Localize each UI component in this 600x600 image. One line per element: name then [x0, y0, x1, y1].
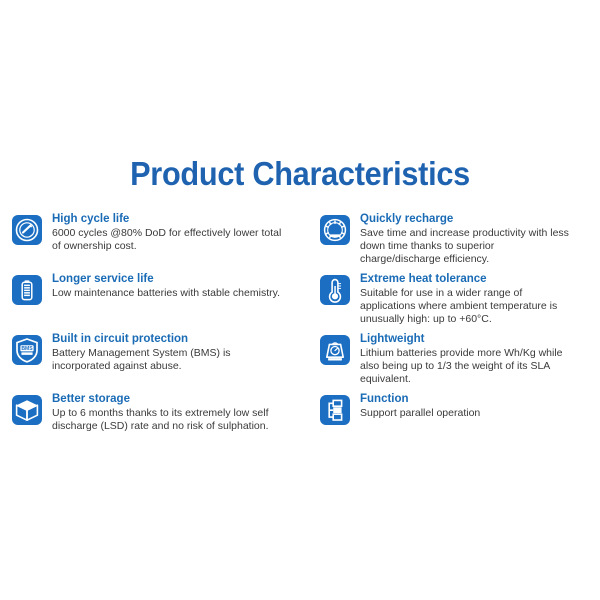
feature-description: Save time and increase productivity with…: [360, 227, 575, 266]
feature-title: Built in circuit protection: [52, 332, 320, 346]
cycle-gauge-icon: [12, 215, 42, 245]
thermometer-icon: [320, 275, 350, 305]
feature-better-storage: Better storage Up to 6 months thanks to …: [12, 392, 320, 452]
page-title: Product Characteristics: [21, 155, 579, 193]
fast-charge-circle-icon: [320, 215, 350, 245]
storage-box-icon: [12, 395, 42, 425]
feature-text: Quickly recharge Save time and increase …: [360, 212, 600, 266]
features-grid: High cycle life 6000 cycles @80% DoD for…: [0, 212, 600, 452]
bms-shield-icon: BMS: [12, 335, 42, 365]
feature-text: Extreme heat tolerance Suitable for use …: [360, 272, 600, 326]
feature-text: Built in circuit protection Battery Mana…: [52, 332, 320, 373]
features-column-left: High cycle life 6000 cycles @80% DoD for…: [0, 212, 320, 452]
feature-title: Better storage: [52, 392, 320, 406]
feature-function-parallel: Function Support parallel operation: [320, 392, 600, 452]
feature-text: Longer service life Low maintenance batt…: [52, 272, 320, 300]
feature-description: Battery Management System (BMS) is incor…: [52, 347, 284, 373]
feature-description: Lithium batteries provide more Wh/Kg whi…: [360, 347, 575, 386]
product-characteristics-page: Product Characteristics High cycle life …: [0, 0, 600, 600]
feature-description: 6000 cycles @80% DoD for effectively low…: [52, 227, 284, 253]
feature-title: Quickly recharge: [360, 212, 600, 226]
feature-high-cycle-life: High cycle life 6000 cycles @80% DoD for…: [12, 212, 320, 272]
feature-title: Function: [360, 392, 600, 406]
feature-built-in-circuit-protection: BMS Built in circuit protection Battery …: [12, 332, 320, 392]
feature-lightweight: Lightweight Lithium batteries provide mo…: [320, 332, 600, 392]
feature-description: Low maintenance batteries with stable ch…: [52, 287, 284, 300]
feature-title: High cycle life: [52, 212, 320, 226]
feature-text: High cycle life 6000 cycles @80% DoD for…: [52, 212, 320, 253]
feature-text: Function Support parallel operation: [360, 392, 600, 420]
feature-title: Extreme heat tolerance: [360, 272, 600, 286]
feature-description: Support parallel operation: [360, 407, 575, 420]
parallel-connection-icon: [320, 395, 350, 425]
feature-extreme-heat-tolerance: Extreme heat tolerance Suitable for use …: [320, 272, 600, 332]
weighing-scale-icon: [320, 335, 350, 365]
battery-icon: [12, 275, 42, 305]
feature-quickly-recharge: Quickly recharge Save time and increase …: [320, 212, 600, 272]
feature-text: Better storage Up to 6 months thanks to …: [52, 392, 320, 433]
feature-text: Lightweight Lithium batteries provide mo…: [360, 332, 600, 386]
svg-text:BMS: BMS: [21, 346, 33, 352]
feature-description: Suitable for use in a wider range of app…: [360, 287, 575, 326]
feature-description: Up to 6 months thanks to its extremely l…: [52, 407, 284, 433]
feature-title: Lightweight: [360, 332, 600, 346]
features-column-right: Quickly recharge Save time and increase …: [320, 212, 600, 452]
feature-longer-service-life: Longer service life Low maintenance batt…: [12, 272, 320, 332]
feature-title: Longer service life: [52, 272, 320, 286]
